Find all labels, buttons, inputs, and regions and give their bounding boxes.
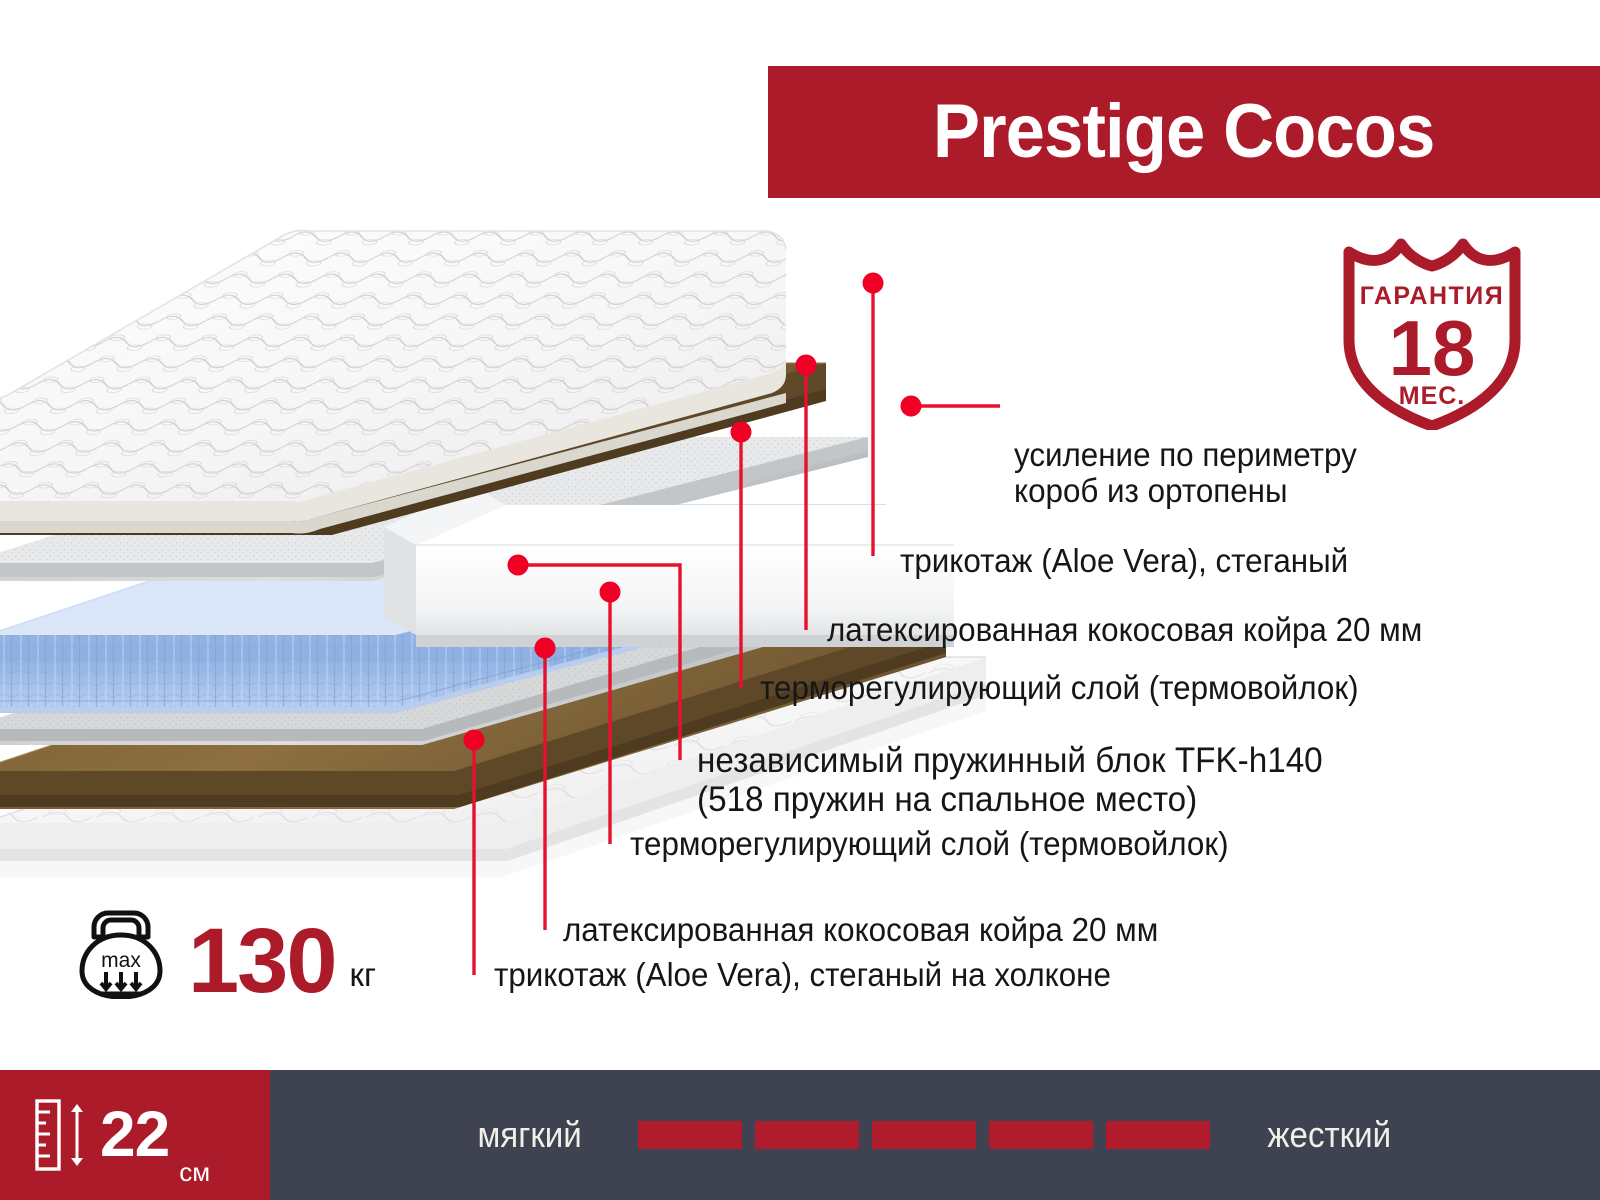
label-coir-top: латексированная кокосовая койра 20 мм xyxy=(827,612,1422,649)
page-title: Prestige Cocos xyxy=(933,94,1435,170)
firmness-segment-1[interactable] xyxy=(638,1121,742,1149)
label-coir-bottom: латексированная кокосовая койра 20 мм xyxy=(563,912,1158,949)
label-spring-block: независимый пружинный блок TFK-h140 (518… xyxy=(697,742,1323,819)
firmness-segment-3[interactable] xyxy=(872,1121,976,1149)
shield-unit: МЕС. xyxy=(1399,382,1466,410)
firmness-soft-label: мягкий xyxy=(478,1114,582,1156)
label-thermofelt-bottom: терморегулирующий слой (термовойлок) xyxy=(630,826,1229,863)
max-weight-unit: кг xyxy=(350,958,376,999)
max-weight-value: 130 xyxy=(188,924,336,999)
firmness-panel: мягкий жесткий xyxy=(270,1070,1600,1200)
guarantee-shield-icon: ГАРАНТИЯ 18 МЕС. xyxy=(1337,232,1527,430)
kettlebell-max-load-icon: max xyxy=(78,905,164,999)
firmness-segment-4[interactable] xyxy=(989,1121,1093,1149)
bottom-bar: 22 см мягкий жесткий xyxy=(0,1070,1600,1200)
shield-value: 18 xyxy=(1389,304,1476,392)
product-title-bar: Prestige Cocos xyxy=(768,66,1600,198)
label-perimeter-reinforcement: усиление по периметру короб из ортопены xyxy=(1014,437,1357,510)
label-knit-bottom: трикотаж (Aloe Vera), стеганый на холкон… xyxy=(494,957,1111,994)
firmness-segment-2[interactable] xyxy=(755,1121,859,1149)
firmness-scale xyxy=(638,1121,1210,1149)
height-panel: 22 см xyxy=(0,1070,270,1200)
firmness-segment-5[interactable] xyxy=(1106,1121,1210,1149)
height-unit: см xyxy=(179,1157,210,1200)
label-thermofelt-top: терморегулирующий слой (термовойлок) xyxy=(760,670,1359,707)
max-weight-block: max 130 кг xyxy=(78,905,376,999)
height-value: 22 xyxy=(100,1109,169,1160)
firmness-hard-label: жесткий xyxy=(1268,1114,1392,1156)
kettlebell-max-text: max xyxy=(101,949,141,972)
infographic-root: Prestige Cocos ГАРАНТИЯ 18 МЕС. xyxy=(0,0,1600,1200)
ruler-height-icon xyxy=(34,1098,92,1172)
label-knit-top: трикотаж (Aloe Vera), стеганый xyxy=(900,543,1348,580)
